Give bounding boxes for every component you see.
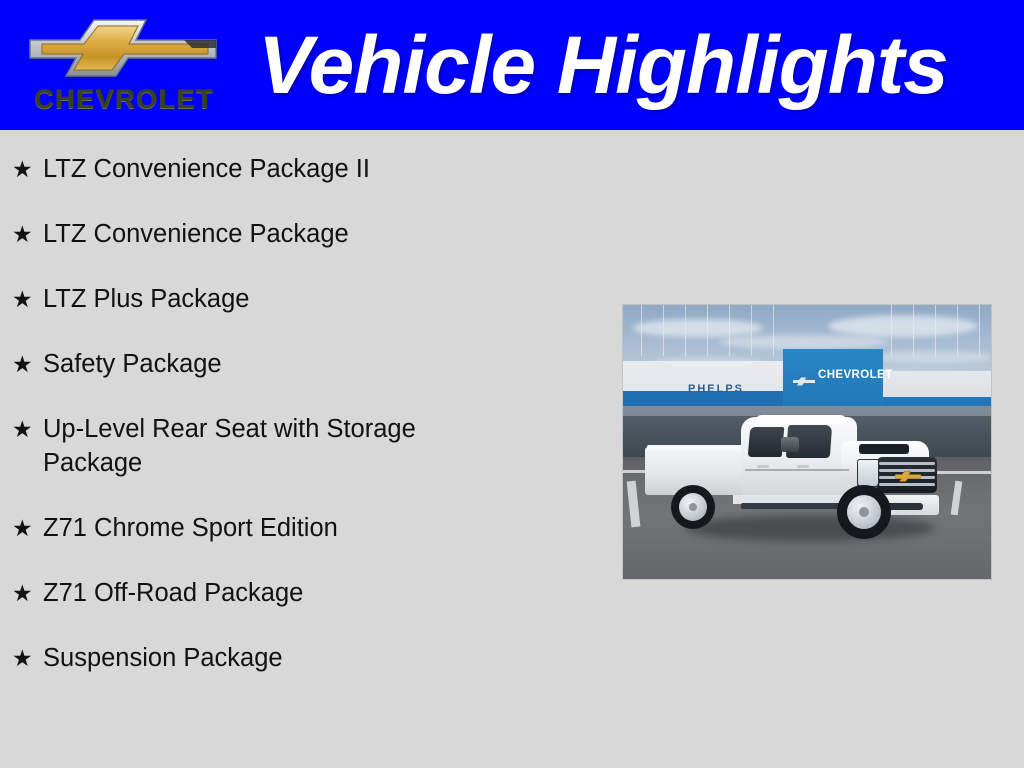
star-bullet-icon: ★ xyxy=(12,347,33,381)
vehicle-highlights-list: ★ LTZ Convenience Package II ★ LTZ Conve… xyxy=(0,130,600,706)
vehicle-highlights-slide: CHEVROLET Vehicle Highlights ★ LTZ Conve… xyxy=(0,0,1024,768)
vehicle-photo: PHELPS CHEVROLET xyxy=(622,304,992,580)
window-mullion xyxy=(707,305,708,356)
list-item-label: Z71 Off-Road Package xyxy=(43,576,498,610)
star-bullet-icon: ★ xyxy=(12,576,33,610)
list-item: ★ LTZ Convenience Package II xyxy=(0,152,600,186)
list-item: ★ Z71 Chrome Sport Edition xyxy=(0,511,600,545)
cloud xyxy=(719,335,889,349)
cloud xyxy=(828,315,978,337)
list-item: ★ Up-Level Rear Seat with Storage Packag… xyxy=(0,412,600,480)
chevrolet-bowtie-icon xyxy=(24,10,224,82)
list-item-label: Suspension Package xyxy=(43,641,498,675)
grille-bar xyxy=(879,483,935,486)
list-item-label: Safety Package xyxy=(43,347,498,381)
list-item-label: LTZ Plus Package xyxy=(43,282,498,316)
grille-bar xyxy=(879,462,935,465)
list-item-label: LTZ Convenience Package xyxy=(43,217,498,251)
star-bullet-icon: ★ xyxy=(12,152,33,186)
side-mirror xyxy=(781,437,799,452)
front-hub xyxy=(859,507,869,517)
chevrolet-logo: CHEVROLET xyxy=(18,6,230,124)
door-handle xyxy=(797,465,809,468)
star-bullet-icon: ★ xyxy=(12,217,33,251)
list-item: ★ Suspension Package xyxy=(0,641,600,675)
window-mullion xyxy=(957,305,958,356)
window-mullion xyxy=(773,305,774,356)
window-mullion xyxy=(751,305,752,356)
list-item-label: Z71 Chrome Sport Edition xyxy=(43,511,498,545)
list-item: ★ LTZ Plus Package xyxy=(0,282,600,316)
dealer-brand-sign: CHEVROLET xyxy=(818,369,893,381)
rear-door-window xyxy=(748,427,785,457)
running-board xyxy=(741,503,845,509)
truck-roof xyxy=(755,415,847,424)
vehicle-photo-scene: PHELPS CHEVROLET xyxy=(623,305,991,579)
hood-scoop xyxy=(859,444,909,454)
window-mullion xyxy=(979,305,980,356)
window-mullion xyxy=(913,305,914,356)
door-handle xyxy=(757,465,769,468)
window-mullion xyxy=(891,305,892,356)
chevrolet-bowtie-icon xyxy=(793,373,815,382)
window-mullion xyxy=(663,305,664,356)
list-item: ★ LTZ Convenience Package xyxy=(0,217,600,251)
star-bullet-icon: ★ xyxy=(12,641,33,675)
window-mullion xyxy=(641,305,642,356)
page-title: Vehicle Highlights xyxy=(258,14,1018,118)
list-item: ★ Z71 Off-Road Package xyxy=(0,576,600,610)
silverado-truck xyxy=(645,411,945,535)
body-crease xyxy=(745,469,849,471)
cloud xyxy=(633,319,763,337)
headlight xyxy=(857,459,879,487)
window-mullion xyxy=(729,305,730,356)
list-item-label: LTZ Convenience Package II xyxy=(43,152,498,186)
window-mullion xyxy=(935,305,936,356)
star-bullet-icon: ★ xyxy=(12,282,33,316)
chevrolet-bowtie-icon xyxy=(895,469,921,480)
star-bullet-icon: ★ xyxy=(12,511,33,545)
window-mullion xyxy=(685,305,686,356)
header-bar: CHEVROLET Vehicle Highlights xyxy=(0,0,1024,130)
chevrolet-wordmark: CHEVROLET xyxy=(18,86,230,113)
list-item-label: Up-Level Rear Seat with Storage Package xyxy=(43,412,498,480)
list-item: ★ Safety Package xyxy=(0,347,600,381)
rear-hub xyxy=(689,503,697,511)
star-bullet-icon: ★ xyxy=(12,412,33,446)
dealer-name-sign: PHELPS xyxy=(688,383,744,395)
